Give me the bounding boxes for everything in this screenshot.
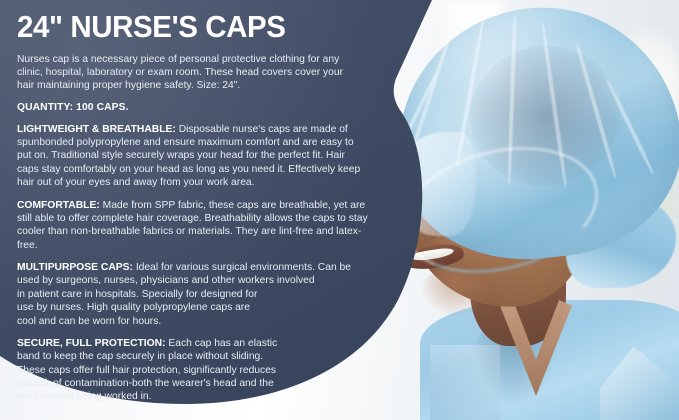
feature-heading: MULTIPURPOSE CAPS: bbox=[17, 262, 133, 273]
feature-heading: LIGHTWEIGHT & BREATHABLE: bbox=[17, 124, 176, 135]
feature-heading: SECURE, FULL PROTECTION: bbox=[17, 338, 166, 349]
info-content: 24" NURSE'S CAPS Nurses cap is a necessa… bbox=[0, 0, 460, 420]
feature-multipurpose-caps: MULTIPURPOSE CAPS: Ideal for various sur… bbox=[17, 261, 369, 328]
product-intro: Nurses cap is a necessary piece of perso… bbox=[17, 53, 359, 93]
feature-lightweight-breathable: LIGHTWEIGHT & BREATHABLE: Disposable nur… bbox=[17, 123, 361, 190]
feature-heading: COMFORTABLE: bbox=[17, 200, 100, 211]
feature-comfortable: COMFORTABLE: Made from SPP fabric, these… bbox=[17, 199, 369, 253]
product-infographic: 24" NURSE'S CAPS Nurses cap is a necessa… bbox=[0, 0, 679, 420]
page-title: 24" NURSE'S CAPS bbox=[17, 11, 438, 44]
feature-secure-full-protection: SECURE, FULL PROTECTION: Each cap has an… bbox=[17, 337, 285, 404]
quantity-line: QUANTITY: 100 CAPS. bbox=[17, 102, 460, 113]
